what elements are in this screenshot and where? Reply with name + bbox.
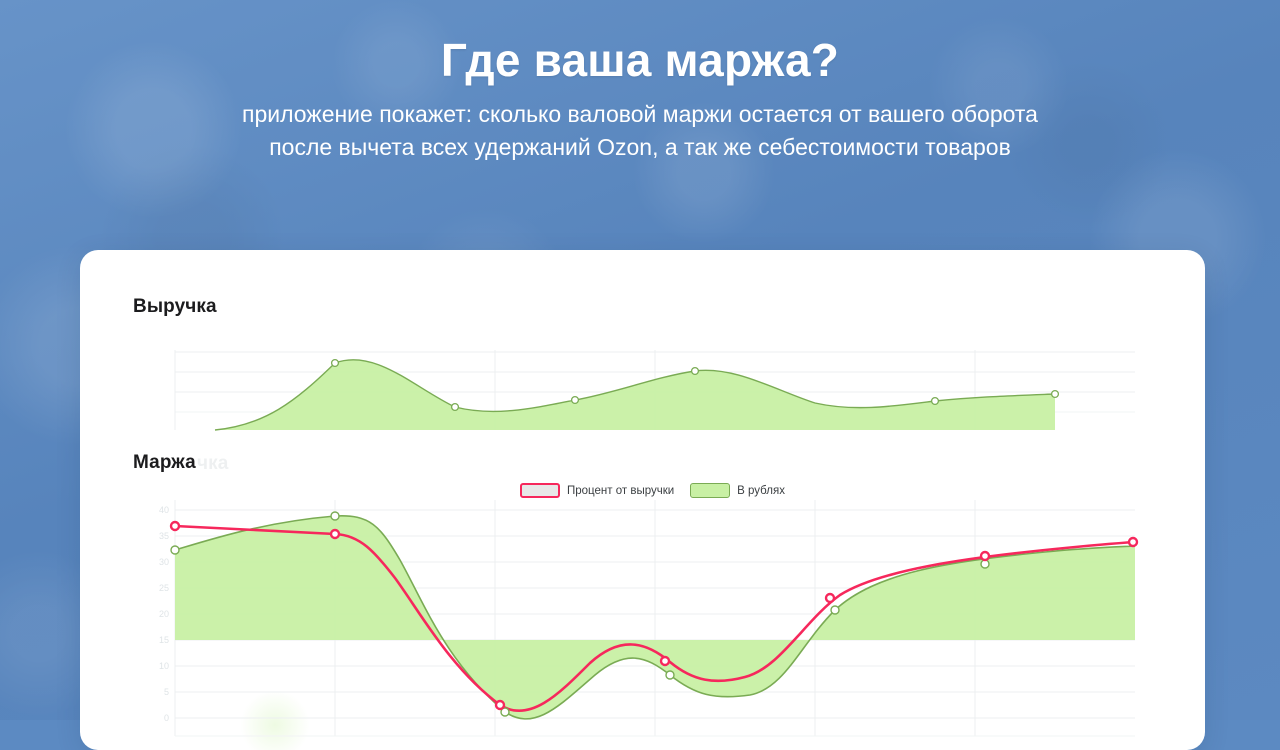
revenue-chart[interactable] [175,350,1135,430]
svg-text:15: 15 [159,635,169,645]
ghost-title-residue: чка [197,453,228,475]
data-point[interactable] [171,522,179,530]
data-point[interactable] [826,594,834,602]
subtitle-line-2: после вычета всех удержаний Ozon, а так … [85,131,1195,164]
data-point[interactable] [831,606,839,614]
hero-header: Где ваша маржа? приложение покажет: скол… [0,36,1280,164]
data-point[interactable] [932,398,939,405]
legend-item-rubles[interactable]: В рублях [690,483,785,498]
data-point[interactable] [661,657,669,665]
svg-text:20: 20 [159,609,169,619]
data-point[interactable] [981,552,989,560]
revenue-chart-svg [175,350,1135,430]
legend-label-rubles: В рублях [737,485,785,497]
revenue-section-title: Выручка [133,296,217,318]
data-point[interactable] [452,404,459,411]
data-point[interactable] [331,512,339,520]
data-point[interactable] [572,397,579,404]
legend-swatch-percent-icon [520,483,560,498]
svg-text:5: 5 [164,687,169,697]
revenue-area [215,360,1055,430]
subtitle-line-1: приложение покажет: сколько валовой марж… [85,98,1195,131]
data-point[interactable] [496,701,504,709]
svg-text:40: 40 [159,505,169,515]
data-point[interactable] [331,530,339,538]
data-point[interactable] [981,560,989,568]
data-point[interactable] [1052,391,1059,398]
svg-text:0: 0 [164,713,169,723]
svg-text:10: 10 [159,661,169,671]
margin-chart-svg: 40 35 30 25 20 15 10 5 0 [175,500,1135,750]
data-point[interactable] [171,546,179,554]
legend-label-percent: Процент от выручки [567,485,674,497]
chart-legend: Процент от выручки В рублях [520,483,785,498]
svg-text:30: 30 [159,557,169,567]
data-point[interactable] [666,671,674,679]
margin-chart[interactable]: 40 35 30 25 20 15 10 5 0 [175,500,1135,750]
page-title: Где ваша маржа? [0,36,1280,84]
legend-swatch-rubles-icon [690,483,730,498]
margin-y-tick-labels: 40 35 30 25 20 15 10 5 0 [159,505,169,723]
dashboard-card: Выручка Марж [80,250,1205,750]
data-point[interactable] [1129,538,1137,546]
margin-section-title: Маржа [133,452,196,474]
data-point[interactable] [692,368,699,375]
svg-text:25: 25 [159,583,169,593]
page-subtitle: приложение покажет: сколько валовой марж… [85,98,1195,163]
svg-text:35: 35 [159,531,169,541]
data-point[interactable] [332,360,339,367]
legend-item-percent-of-revenue[interactable]: Процент от выручки [520,483,674,498]
